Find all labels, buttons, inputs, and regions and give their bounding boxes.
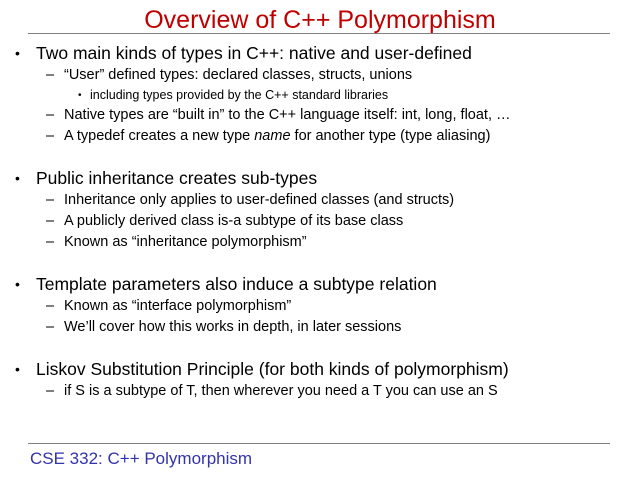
- slide-title: Overview of C++ Polymorphism: [0, 6, 640, 34]
- bullet-marker-level2: –: [46, 232, 54, 253]
- bullet-text: We’ll cover how this works in depth, in …: [64, 319, 401, 335]
- bullet-text: including types provided by the C++ stan…: [90, 88, 388, 102]
- bullet-marker-level1: •: [15, 166, 20, 190]
- bullet-text: A publicly derived class is-a subtype of…: [64, 213, 403, 229]
- bullet-marker-level2: –: [46, 296, 54, 317]
- bullet-marker-level3: •: [78, 86, 82, 105]
- bullet-level1: • Two main kinds of types in C++: native…: [0, 41, 640, 65]
- bullet-text: Known as “interface polymorphism”: [64, 298, 291, 314]
- bullet-text-post: for another type (type aliasing): [291, 128, 491, 144]
- bullet-marker-level1: •: [15, 272, 20, 296]
- bullet-text: Template parameters also induce a subtyp…: [36, 274, 437, 294]
- bullet-level2: – Known as “interface polymorphism”: [0, 296, 640, 317]
- bullet-text: Liskov Substitution Principle (for both …: [36, 359, 509, 379]
- bullet-text-emphasis: name: [254, 128, 290, 144]
- slide: Overview of C++ Polymorphism • Two main …: [0, 0, 640, 480]
- slide-footer: CSE 332: C++ Polymorphism: [30, 448, 252, 470]
- bullet-level1: • Liskov Substitution Principle (for bot…: [0, 357, 640, 381]
- bullet-text: “User” defined types: declared classes, …: [64, 67, 412, 83]
- bullet-level3: • including types provided by the C++ st…: [0, 86, 640, 105]
- bullet-level2: – We’ll cover how this works in depth, i…: [0, 317, 640, 338]
- bullet-text: Inheritance only applies to user-defined…: [64, 192, 454, 208]
- bullet-level2: – Known as “inheritance polymorphism”: [0, 232, 640, 253]
- bullet-level2: – Inheritance only applies to user-defin…: [0, 190, 640, 211]
- footer-divider: [28, 443, 610, 444]
- bullet-marker-level2: –: [46, 211, 54, 232]
- bullet-marker-level1: •: [15, 41, 20, 65]
- bullet-level2-typedef: – A typedef creates a new type name for …: [0, 126, 640, 147]
- slide-body: • Two main kinds of types in C++: native…: [0, 41, 640, 402]
- title-divider: [28, 33, 610, 34]
- group-spacer: [0, 253, 640, 272]
- bullet-marker-level2: –: [46, 317, 54, 338]
- bullet-marker-level2: –: [46, 381, 54, 402]
- bullet-text: Two main kinds of types in C++: native a…: [36, 43, 472, 63]
- bullet-text: if S is a subtype of T, then wherever yo…: [64, 383, 498, 399]
- bullet-marker-level2: –: [46, 105, 54, 126]
- bullet-text: Known as “inheritance polymorphism”: [64, 234, 307, 250]
- bullet-level1: • Public inheritance creates sub-types: [0, 166, 640, 190]
- bullet-text: Native types are “built in” to the C++ l…: [64, 107, 511, 123]
- bullet-marker-level2: –: [46, 65, 54, 86]
- bullet-marker-level2: –: [46, 126, 54, 147]
- group-spacer: [0, 338, 640, 357]
- bullet-text-pre: A typedef creates a new type: [64, 128, 254, 144]
- bullet-level2: – Native types are “built in” to the C++…: [0, 105, 640, 126]
- bullet-text: Public inheritance creates sub-types: [36, 168, 317, 188]
- bullet-marker-level1: •: [15, 357, 20, 381]
- group-spacer: [0, 147, 640, 166]
- bullet-level2: – “User” defined types: declared classes…: [0, 65, 640, 86]
- bullet-marker-level2: –: [46, 190, 54, 211]
- bullet-level2: – A publicly derived class is-a subtype …: [0, 211, 640, 232]
- bullet-level1: • Template parameters also induce a subt…: [0, 272, 640, 296]
- bullet-level2: – if S is a subtype of T, then wherever …: [0, 381, 640, 402]
